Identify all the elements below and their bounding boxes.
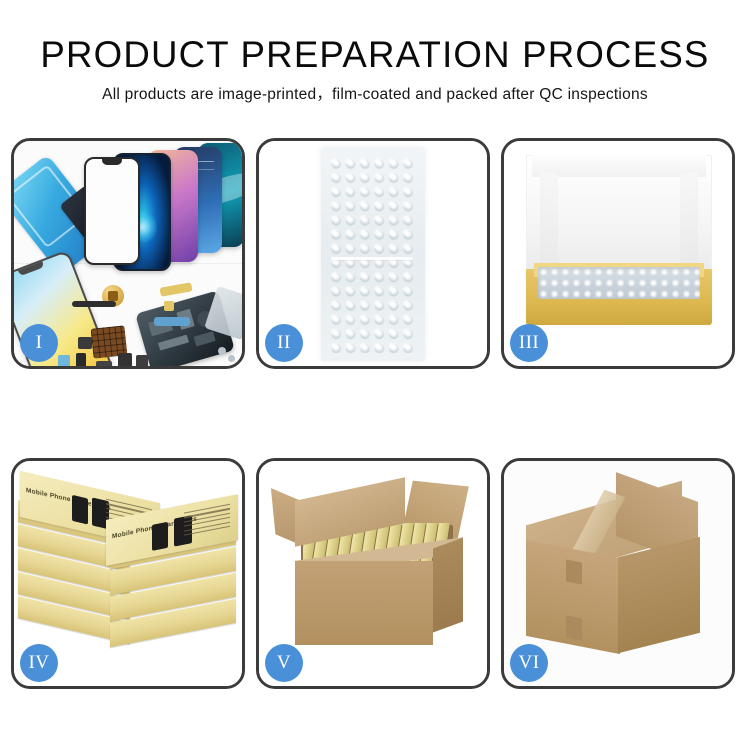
lid-flap-left bbox=[540, 171, 558, 271]
step-panel-6[interactable]: VI bbox=[501, 458, 735, 689]
step-panel-5[interactable]: V bbox=[256, 458, 490, 689]
phone-print-icon bbox=[72, 495, 88, 525]
step-panel-2[interactable]: II bbox=[256, 138, 490, 369]
page-subtitle: All products are image-printed，film-coat… bbox=[0, 84, 750, 106]
flex-cable-icon bbox=[72, 301, 116, 307]
bubble-pattern bbox=[329, 157, 415, 353]
part-icon bbox=[96, 361, 112, 366]
lid-flap-right bbox=[680, 171, 698, 271]
step-badge-6: VI bbox=[510, 644, 548, 682]
phone-print-icon bbox=[152, 522, 168, 551]
wrap-seam bbox=[331, 257, 413, 260]
part-icon bbox=[58, 355, 70, 366]
step-badge-1: I bbox=[20, 324, 58, 362]
screw-icon bbox=[228, 355, 235, 362]
carton-seam-upper bbox=[566, 559, 582, 584]
spec-lines bbox=[184, 504, 230, 543]
carton-front-face bbox=[295, 561, 433, 645]
phone-white-icon bbox=[84, 157, 140, 265]
process-step-grid: I II bbox=[11, 138, 739, 689]
carton-side-right bbox=[433, 538, 463, 633]
product-preparation-infographic: PRODUCT PREPARATION PROCESS All products… bbox=[0, 0, 750, 750]
header: PRODUCT PREPARATION PROCESS All products… bbox=[0, 34, 750, 106]
white-lid-icon bbox=[526, 155, 712, 273]
screw-icon bbox=[218, 347, 226, 355]
bubble-wrapped-product-icon bbox=[538, 267, 700, 299]
step-badge-3: III bbox=[510, 324, 548, 362]
step-panel-3[interactable]: III bbox=[501, 138, 735, 369]
part-icon bbox=[136, 355, 148, 366]
flex-cable-gold-icon bbox=[159, 282, 192, 296]
carton-seam-lower bbox=[566, 615, 582, 640]
step-badge-5: V bbox=[265, 644, 303, 682]
part-icon bbox=[164, 301, 174, 311]
bubble-wrap-icon bbox=[321, 147, 425, 361]
page-title: PRODUCT PREPARATION PROCESS bbox=[4, 34, 747, 76]
step-badge-4: IV bbox=[20, 644, 58, 682]
step-panel-4[interactable]: Mobile Phone Spare Parts Mobi bbox=[11, 458, 245, 689]
part-icon bbox=[76, 353, 86, 366]
part-icon bbox=[118, 353, 132, 366]
part-icon bbox=[78, 337, 92, 349]
box-stack-icon: Mobile Phone Spare Parts Mobi bbox=[18, 479, 242, 675]
flex-cable-blue-icon bbox=[154, 317, 190, 326]
carton-side-face bbox=[618, 537, 700, 653]
step-panel-1[interactable]: I bbox=[11, 138, 245, 369]
step-badge-2: II bbox=[265, 324, 303, 362]
